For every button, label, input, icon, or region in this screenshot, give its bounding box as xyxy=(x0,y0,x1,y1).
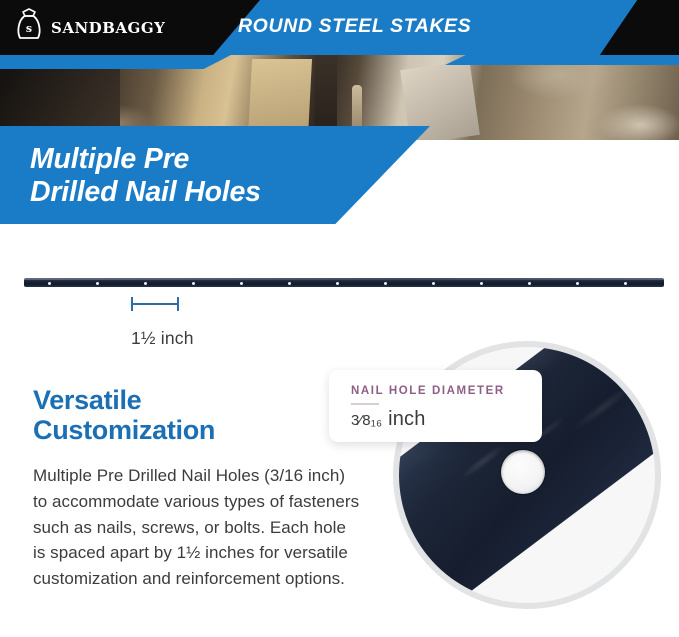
dimension-bracket xyxy=(131,297,179,311)
stake-hole xyxy=(240,282,243,285)
brand-name: sandbaggy xyxy=(51,15,165,36)
stake-hole xyxy=(384,282,387,285)
headline-line-1: Multiple Pre xyxy=(30,143,189,175)
card-value: 3⁄8₁₆ inch xyxy=(351,408,426,431)
stake-hole xyxy=(288,282,291,285)
section-title-line-1: Versatile xyxy=(33,385,141,415)
stake-hole xyxy=(192,282,195,285)
header-title: ROUND STEEL STAKES xyxy=(238,15,471,38)
stake-bar xyxy=(24,278,664,287)
card-value-unit: inch xyxy=(388,408,426,430)
stake-hole xyxy=(96,282,99,285)
stake-hole xyxy=(528,282,531,285)
dimension-line xyxy=(131,303,179,305)
svg-text:s: s xyxy=(26,22,32,35)
infographic-page: s sandbaggy ROUND STEEL STAKES Multiple … xyxy=(0,0,679,637)
sandbag-icon: s xyxy=(14,8,44,42)
inset-nail-hole xyxy=(501,450,545,494)
card-label: NAIL HOLE DIAMETER xyxy=(351,385,505,397)
stake-hole xyxy=(576,282,579,285)
nail-hole-diameter-card: NAIL HOLE DIAMETER 3⁄8₁₆ inch xyxy=(329,370,542,442)
stake-hole xyxy=(624,282,627,285)
photo-form-board xyxy=(248,59,312,137)
stake-hole xyxy=(336,282,339,285)
dimension-label: 1½ inch xyxy=(131,328,194,349)
dimension-cap-right xyxy=(177,297,179,311)
card-underline-accent xyxy=(351,403,379,405)
stake-hole xyxy=(480,282,483,285)
stake-hole xyxy=(432,282,435,285)
stake-product-image xyxy=(24,272,664,294)
headline-line-2: Drilled Nail Holes xyxy=(30,176,420,209)
headline-text: Multiple Pre Drilled Nail Holes xyxy=(30,143,420,209)
section-title-line-2: Customization xyxy=(33,415,333,445)
stake-hole xyxy=(144,282,147,285)
brand-logo: s sandbaggy xyxy=(14,8,165,42)
section-body-text: Multiple Pre Drilled Nail Holes (3/16 in… xyxy=(33,463,363,592)
card-value-fraction: 3⁄8₁₆ xyxy=(351,412,382,429)
header-black-right-panel xyxy=(569,0,679,55)
section-title: Versatile Customization xyxy=(33,385,333,445)
stake-hole xyxy=(48,282,51,285)
